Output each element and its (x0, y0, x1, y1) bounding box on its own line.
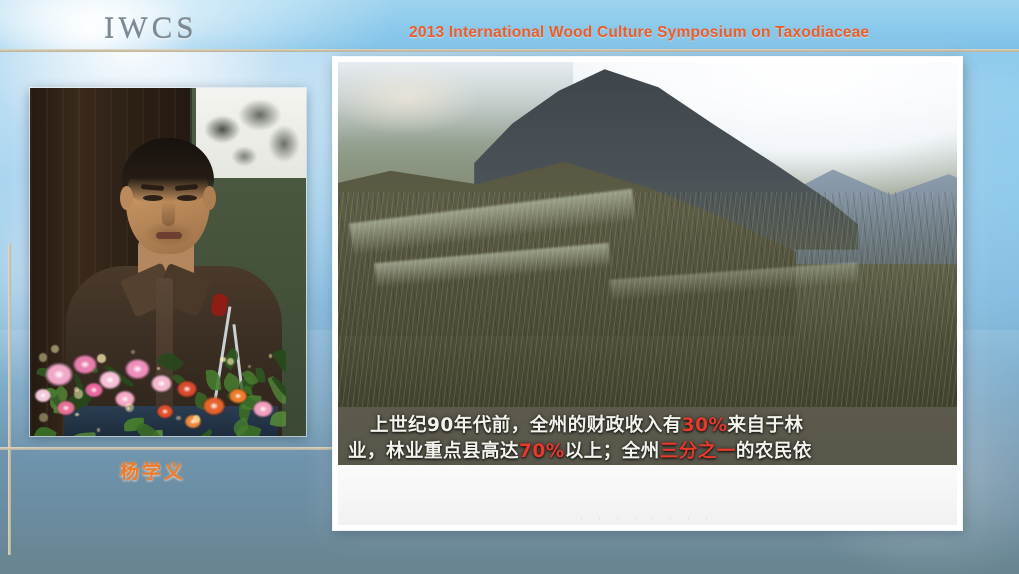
presentation-stage: IWCS 2013 International Wood Culture Sym… (0, 0, 1019, 574)
bouquet-leaf (205, 369, 221, 391)
slide-panel: 上世纪90年代前，全州的财政收入有30%来自于林业，林业重点县高达70%以上；全… (333, 57, 962, 530)
bouquet-speckle (51, 345, 59, 353)
speaker-ear-left (120, 186, 133, 210)
bouquet-flower (44, 362, 74, 387)
bouquet-flower (202, 396, 226, 416)
header-divider-rule (0, 49, 1019, 52)
caption-run: 的农民依 (736, 441, 812, 462)
caption-run: 来自于林 (728, 415, 804, 436)
speaker-mouth (156, 232, 182, 239)
caption-run: 以上；全州 (565, 441, 660, 462)
bouquet-flower (176, 380, 198, 398)
flower-bouquet (30, 344, 286, 436)
vertical-accent-rule (8, 243, 11, 555)
backdrop-artwork (196, 88, 306, 178)
bouquet-speckle (248, 365, 251, 368)
bouquet-speckle (97, 354, 106, 363)
speaker-name-caption: 杨学义 (0, 457, 306, 484)
caption-run: 上世纪90年代前，全州的财政收入有 (370, 415, 682, 436)
speaker-eye-left (143, 195, 163, 201)
photo-highlight-glow (338, 62, 511, 149)
slide-caption-line: 业，林业重点县高达70%以上；全州三分之一的农民依 (348, 439, 947, 465)
bouquet-leaf (69, 432, 97, 436)
forest-landscape-photo (338, 62, 957, 423)
bouquet-speckle (75, 413, 79, 417)
bouquet-speckle (127, 407, 130, 410)
speaker-ear-right (203, 186, 216, 210)
bouquet-speckle (157, 367, 161, 371)
bouquet-leaf (157, 349, 185, 375)
bouquet-speckle (97, 428, 100, 431)
caption-run: 业，林业重点县高达 (348, 441, 519, 462)
bouquet-speckle (39, 413, 48, 422)
bouquet-speckle (220, 357, 226, 363)
bouquet-speckle (131, 350, 135, 354)
caption-highlight: 70% (519, 441, 565, 462)
symposium-title: 2013 International Wood Culture Symposiu… (409, 24, 869, 42)
bouquet-flower (34, 388, 52, 403)
slide-caption-line: 上世纪90年代前，全州的财政收入有30%来自于林 (348, 413, 947, 439)
bouquet-flower (56, 400, 76, 416)
bouquet-speckle (39, 353, 47, 361)
bouquet-speckle (193, 415, 200, 422)
bouquet-flower (252, 400, 274, 418)
bouquet-flower (84, 382, 104, 398)
slide-footnote: . . . . . . . . (338, 514, 957, 521)
speaker-nose (162, 200, 175, 226)
speaker-eye-right (177, 195, 197, 201)
bouquet-speckle (176, 416, 180, 420)
speaker-video-panel (30, 88, 306, 436)
slide-content: 上世纪90年代前，全州的财政收入有30%来自于林业，林业重点县高达70%以上；全… (338, 62, 957, 525)
bouquet-speckle (269, 354, 273, 358)
bouquet-flower (150, 374, 173, 393)
bouquet-speckle (74, 389, 83, 398)
iwcs-logo: IWCS (104, 10, 198, 46)
bouquet-leaf (34, 423, 57, 436)
bouquet-leaf (190, 429, 215, 436)
caption-highlight: 三分之一 (660, 441, 736, 462)
bouquet-flower (156, 404, 174, 419)
bouquet-flower (124, 358, 151, 380)
horizontal-accent-rule (0, 447, 352, 450)
slide-bottom-strip: . . . . . . . . (338, 465, 957, 525)
caption-highlight: 30% (682, 415, 728, 436)
